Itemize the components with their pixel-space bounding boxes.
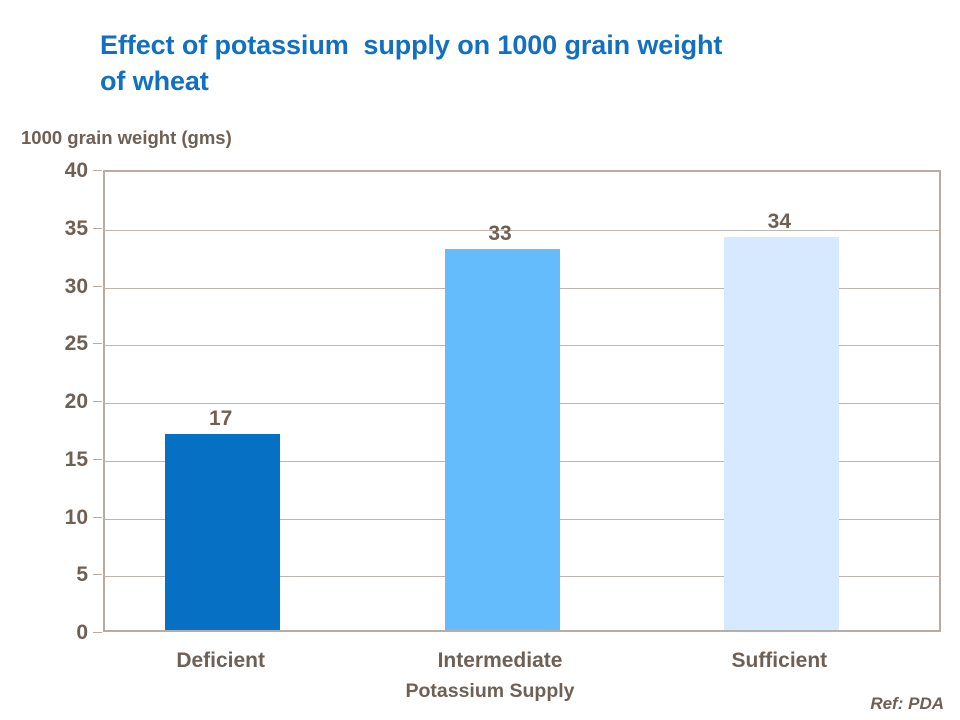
y-axis-tick-mark [93,170,102,171]
y-axis-tick-label: 0 [76,622,88,643]
bar-sufficient[interactable] [724,237,839,630]
x-axis-category-label: Sufficient [669,650,889,671]
y-axis-title: 1000 grain weight (gms) [21,127,232,149]
page-title: Effect of potassium supply on 1000 grain… [100,28,890,99]
bar-value-label: 33 [440,223,560,244]
y-axis-tick-label: 20 [65,391,88,412]
y-axis-tick-mark [93,343,102,344]
bar-value-label: 17 [161,408,281,429]
y-axis-tick-mark [93,228,102,229]
y-axis-tick-mark [93,517,102,518]
y-axis-tick-label: 40 [65,160,88,181]
x-axis-category-label: Intermediate [390,650,610,671]
bar-value-label: 34 [719,211,839,232]
y-axis-tick-mark [93,632,102,633]
x-axis-category-label: Deficient [111,650,331,671]
y-axis-tick-label: 15 [65,449,88,470]
reference-note: Ref: PDA [870,694,944,714]
y-axis-tick-mark [93,574,102,575]
y-axis-tick-mark [93,401,102,402]
y-axis-tick-label: 30 [65,276,88,297]
y-axis-tick-label: 10 [65,507,88,528]
x-axis-title: Potassium Supply [10,680,960,703]
y-axis-tick-mark [93,286,102,287]
bar-deficient[interactable] [165,434,280,630]
y-axis-tick-label: 25 [65,333,88,354]
y-axis-tick-label: 5 [76,564,88,585]
bar-intermediate[interactable] [445,249,560,630]
y-axis-tick-mark [93,459,102,460]
y-axis-tick-label: 35 [65,218,88,239]
